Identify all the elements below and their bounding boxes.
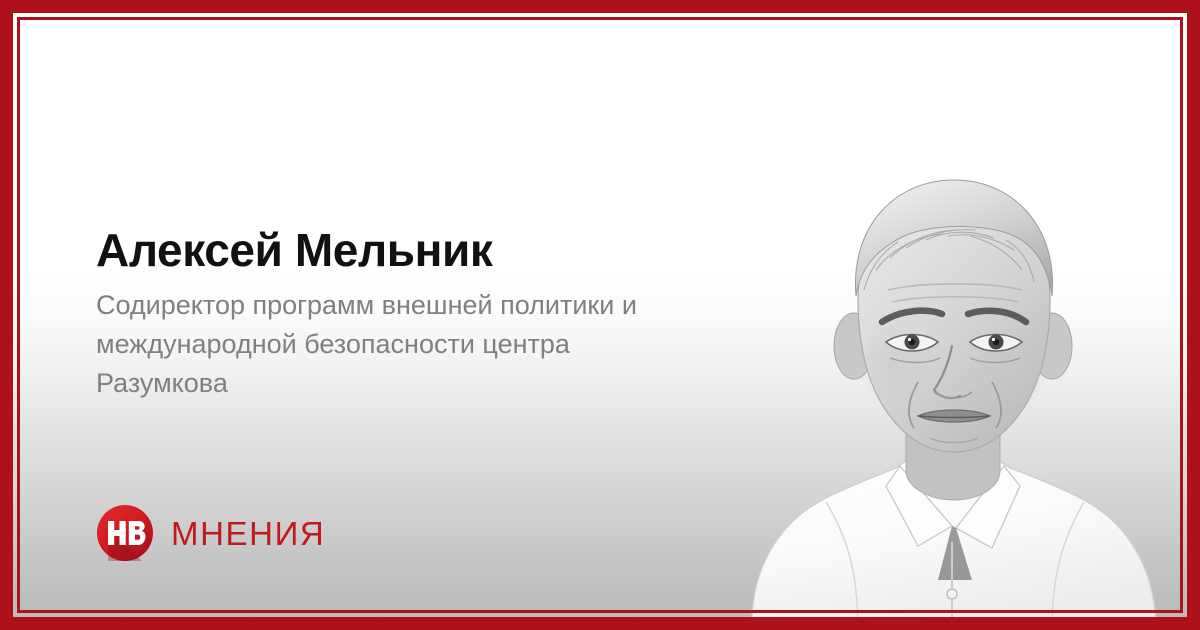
portrait-illustration bbox=[600, 150, 1200, 630]
portrait-photo bbox=[600, 150, 1200, 630]
cheek-shadow-left bbox=[858, 318, 926, 410]
author-info: Алексей Мельник Содиректор программ внеш… bbox=[96, 224, 676, 403]
shirt-button bbox=[947, 589, 957, 599]
author-name: Алексей Мельник bbox=[96, 224, 676, 276]
brand-label: МНЕНИЯ bbox=[171, 517, 325, 550]
opinion-social-card: Алексей Мельник Содиректор программ внеш… bbox=[0, 0, 1200, 630]
author-title: Содиректор программ внешней политики и м… bbox=[96, 286, 671, 403]
nv-logo-icon[interactable] bbox=[96, 504, 154, 562]
cheek-shadow-right bbox=[982, 318, 1050, 410]
nv-logo-svg bbox=[96, 504, 154, 562]
brand-lockup[interactable]: МНЕНИЯ bbox=[96, 504, 325, 562]
